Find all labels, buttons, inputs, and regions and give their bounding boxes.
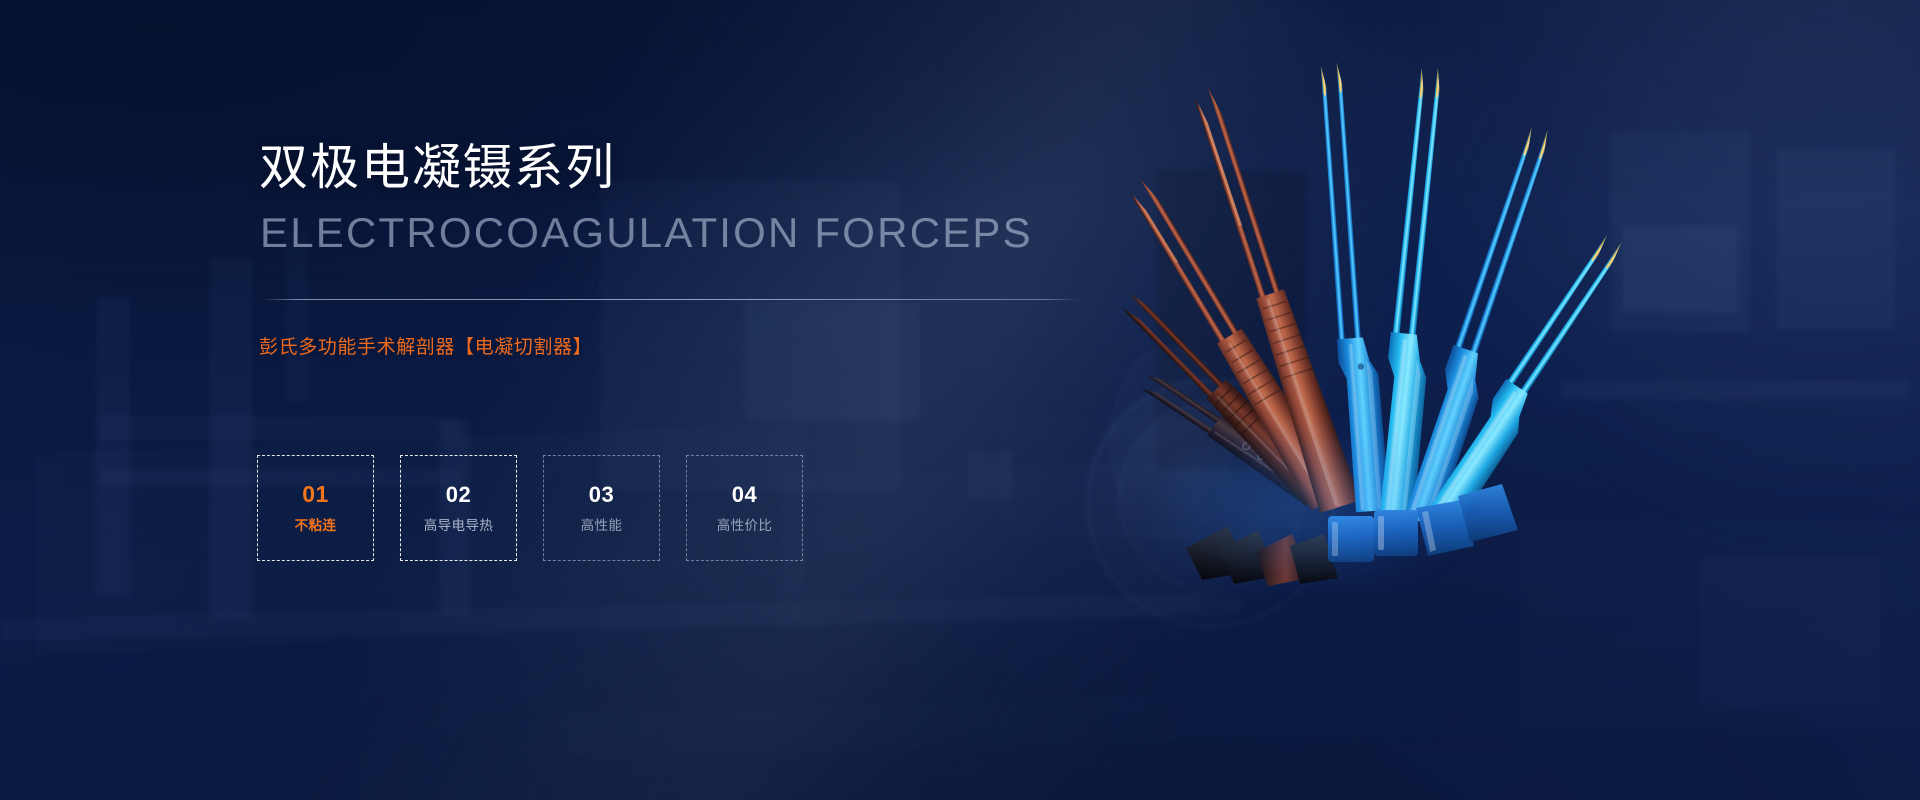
hero-copy: 双极电凝镊系列 ELECTROCOAGULATION FORCEPS 彭氏多功能… bbox=[259, 0, 1159, 800]
feature-label: 不粘连 bbox=[295, 519, 337, 533]
feature-number: 04 bbox=[732, 484, 757, 506]
page-title-en: ELECTROCOAGULATION FORCEPS bbox=[260, 212, 1033, 254]
feature-label: 高性价比 bbox=[717, 519, 773, 533]
feature-list: 01 不粘连 02 高导电导热 03 高性能 04 高性价比 bbox=[257, 455, 803, 561]
feature-number: 02 bbox=[446, 484, 471, 506]
feature-box-04[interactable]: 04 高性价比 bbox=[686, 455, 803, 561]
feature-label: 高性能 bbox=[581, 519, 623, 533]
product-tagline: 彭氏多功能手术解剖器【电凝切割器】 bbox=[259, 338, 592, 357]
feature-number: 01 bbox=[302, 483, 329, 506]
hero-banner: 双极电凝镊系列 ELECTROCOAGULATION FORCEPS 彭氏多功能… bbox=[0, 0, 1920, 800]
feature-box-03[interactable]: 03 高性能 bbox=[543, 455, 660, 561]
title-divider bbox=[260, 299, 1080, 300]
feature-label: 高导电导热 bbox=[424, 519, 494, 533]
page-title-cn: 双极电凝镊系列 bbox=[259, 144, 616, 193]
feature-number: 03 bbox=[589, 484, 614, 506]
feature-box-02[interactable]: 02 高导电导热 bbox=[400, 455, 517, 561]
feature-box-01[interactable]: 01 不粘连 bbox=[257, 455, 374, 561]
